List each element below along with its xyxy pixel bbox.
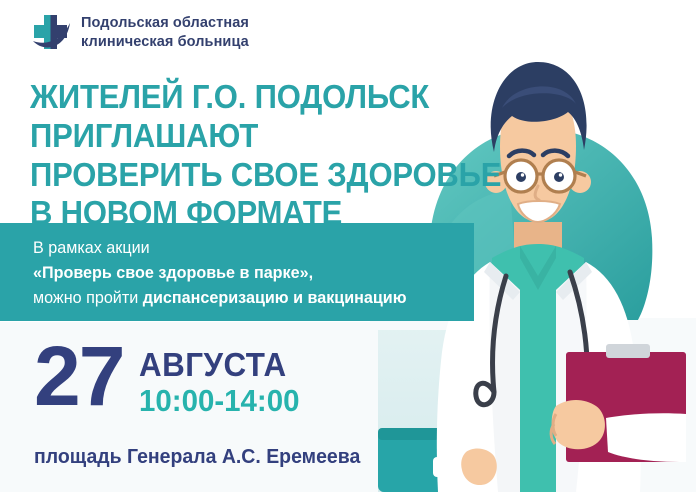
promo-line-3-bold: диспансеризацию и вакцинацию [143, 288, 407, 307]
poster: Подольская областная клиническая больниц… [0, 0, 696, 492]
page-title: ЖИТЕЛЕЙ Г.О. ПОДОЛЬСК ПРИГЛАШАЮТ ПРОВЕРИ… [30, 78, 641, 233]
event-month-time: АВГУСТА 10:00-14:00 [139, 340, 308, 418]
promo-line-3-prefix: можно пройти [33, 288, 143, 307]
event-day: 27 [34, 340, 123, 414]
event-address: площадь Генерала А.С. Еремеева [34, 445, 360, 469]
promo-line-3: можно пройти диспансеризацию и вакцинаци… [33, 286, 442, 311]
event-date-block: 27 АВГУСТА 10:00-14:00 [34, 340, 308, 418]
brand-name: Подольская областная клиническая больниц… [81, 14, 249, 51]
event-time: 10:00-14:00 [139, 384, 299, 419]
promo-line-1: В рамках акции [33, 236, 442, 261]
promo-banner-text: В рамках акции «Проверь свое здоровье в … [33, 236, 442, 310]
promo-line-2: «Проверь свое здоровье в парке», [33, 261, 442, 286]
medical-cross-swoosh-icon [30, 13, 72, 53]
brand-logo: Подольская областная клиническая больниц… [30, 13, 249, 53]
promo-banner: В рамках акции «Проверь свое здоровье в … [0, 223, 474, 321]
event-month: АВГУСТА [139, 348, 299, 382]
